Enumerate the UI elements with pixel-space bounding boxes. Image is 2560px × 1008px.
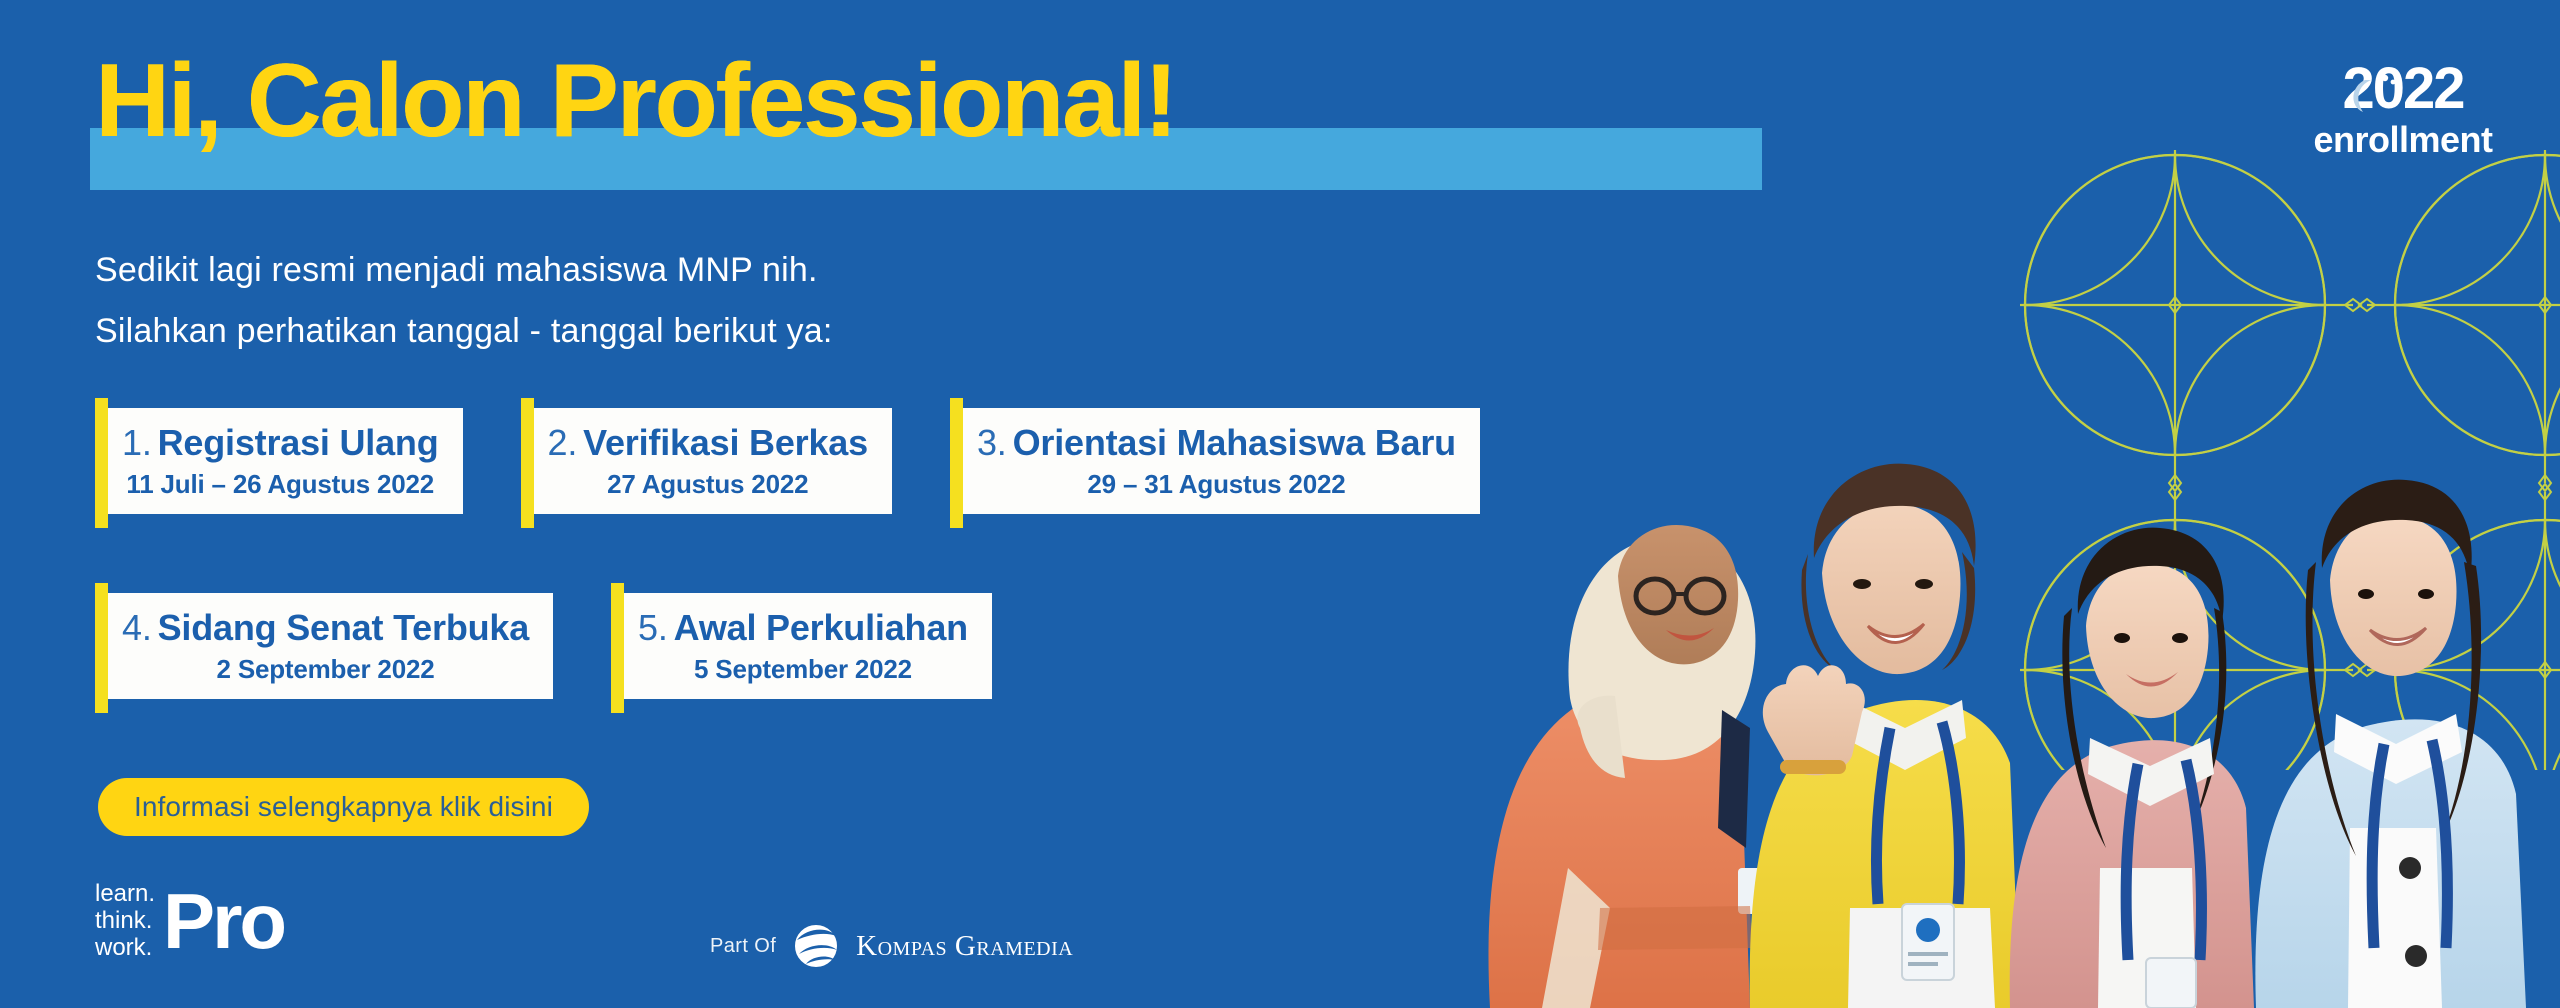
step-date: 5 September 2022 bbox=[638, 652, 968, 686]
step-accent-bar bbox=[611, 583, 624, 713]
step-accent-bar bbox=[95, 398, 108, 528]
subtitle-line-1: Sedikit lagi resmi menjadi mahasiswa MNP… bbox=[95, 240, 833, 301]
step-number: 4. bbox=[122, 607, 158, 648]
step-card-2: 2.Verifikasi Berkas 27 Agustus 2022 bbox=[521, 398, 892, 528]
more-info-button[interactable]: Informasi selengkapnya klik disini bbox=[98, 778, 589, 836]
step-title-text: Orientasi Mahasiswa Baru bbox=[1013, 422, 1456, 463]
step-number: 3. bbox=[977, 422, 1013, 463]
step-card-body: 3.Orientasi Mahasiswa Baru 29 – 31 Agust… bbox=[963, 408, 1480, 514]
step-card-5: 5.Awal Perkuliahan 5 September 2022 bbox=[611, 583, 992, 713]
geometric-pattern-decoration bbox=[2020, 150, 2560, 770]
step-accent-bar bbox=[950, 398, 963, 528]
step-number: 2. bbox=[548, 422, 584, 463]
pro-tagline-think: think. bbox=[95, 907, 155, 934]
step-title: 5.Awal Perkuliahan bbox=[638, 607, 968, 649]
steps-row-1: 1.Registrasi Ulang 11 Juli – 26 Agustus … bbox=[95, 398, 1480, 528]
step-date: 11 Juli – 26 Agustus 2022 bbox=[122, 467, 439, 501]
step-title: 4.Sidang Senat Terbuka bbox=[122, 607, 529, 649]
enrollment-badge: 2022 enrollment bbox=[2298, 58, 2508, 160]
pro-logo-wordmark: Pro bbox=[163, 882, 284, 960]
step-title-text: Sidang Senat Terbuka bbox=[158, 607, 529, 648]
step-date: 29 – 31 Agustus 2022 bbox=[977, 467, 1456, 501]
step-date: 2 September 2022 bbox=[122, 652, 529, 686]
enrollment-label: enrollment bbox=[2313, 120, 2492, 160]
headline-group: Hi, Calon Professional! bbox=[95, 30, 1795, 170]
step-title-text: Registrasi Ulang bbox=[158, 422, 439, 463]
step-title-text: Verifikasi Berkas bbox=[583, 422, 868, 463]
student-yellow-shirt bbox=[1750, 464, 2020, 1008]
step-number: 1. bbox=[122, 422, 158, 463]
student-pink-cardigan bbox=[2010, 528, 2254, 1008]
step-card-body: 2.Verifikasi Berkas 27 Agustus 2022 bbox=[534, 408, 892, 514]
enrollment-year-logo: 2022 bbox=[2303, 58, 2503, 120]
step-title: 1.Registrasi Ulang bbox=[122, 422, 439, 464]
pro-tagline-learn: learn. bbox=[95, 880, 155, 907]
step-title: 2.Verifikasi Berkas bbox=[548, 422, 868, 464]
steps-row-2: 4.Sidang Senat Terbuka 2 September 2022 … bbox=[95, 583, 992, 713]
step-title: 3.Orientasi Mahasiswa Baru bbox=[977, 422, 1456, 464]
step-date: 27 Agustus 2022 bbox=[548, 467, 868, 501]
subtitle-line-2: Silahkan perhatikan tanggal - tanggal be… bbox=[95, 301, 833, 362]
pro-logo: learn. think. work. Pro bbox=[95, 880, 284, 961]
pro-logo-tagline: learn. think. work. bbox=[95, 880, 155, 961]
kompas-gramedia-wordmark: Kompas Gramedia bbox=[856, 930, 1073, 963]
students-photo bbox=[1450, 308, 2560, 1008]
pro-tagline-work: work. bbox=[95, 934, 155, 961]
step-number: 5. bbox=[638, 607, 674, 648]
enrollment-banner: Hi, Calon Professional! Sedikit lagi res… bbox=[0, 0, 2560, 1008]
step-card-body: 1.Registrasi Ulang 11 Juli – 26 Agustus … bbox=[108, 408, 463, 514]
step-accent-bar bbox=[521, 398, 534, 528]
step-card-body: 4.Sidang Senat Terbuka 2 September 2022 bbox=[108, 593, 553, 699]
step-card-body: 5.Awal Perkuliahan 5 September 2022 bbox=[624, 593, 992, 699]
step-title-text: Awal Perkuliahan bbox=[674, 607, 968, 648]
student-blue-blazer bbox=[2255, 480, 2526, 1008]
step-card-3: 3.Orientasi Mahasiswa Baru 29 – 31 Agust… bbox=[950, 398, 1480, 528]
part-of-label: Part Of bbox=[710, 935, 776, 958]
step-card-1: 1.Registrasi Ulang 11 Juli – 26 Agustus … bbox=[95, 398, 463, 528]
step-card-4: 4.Sidang Senat Terbuka 2 September 2022 bbox=[95, 583, 553, 713]
page-title: Hi, Calon Professional! bbox=[95, 30, 1176, 172]
globe-icon bbox=[790, 920, 842, 972]
subtitle-block: Sedikit lagi resmi menjadi mahasiswa MNP… bbox=[95, 240, 833, 362]
student-hijab-orange bbox=[1488, 525, 1768, 1008]
part-of-kompas-gramedia: Part Of Kompas Gramedia bbox=[710, 920, 1073, 972]
step-accent-bar bbox=[95, 583, 108, 713]
